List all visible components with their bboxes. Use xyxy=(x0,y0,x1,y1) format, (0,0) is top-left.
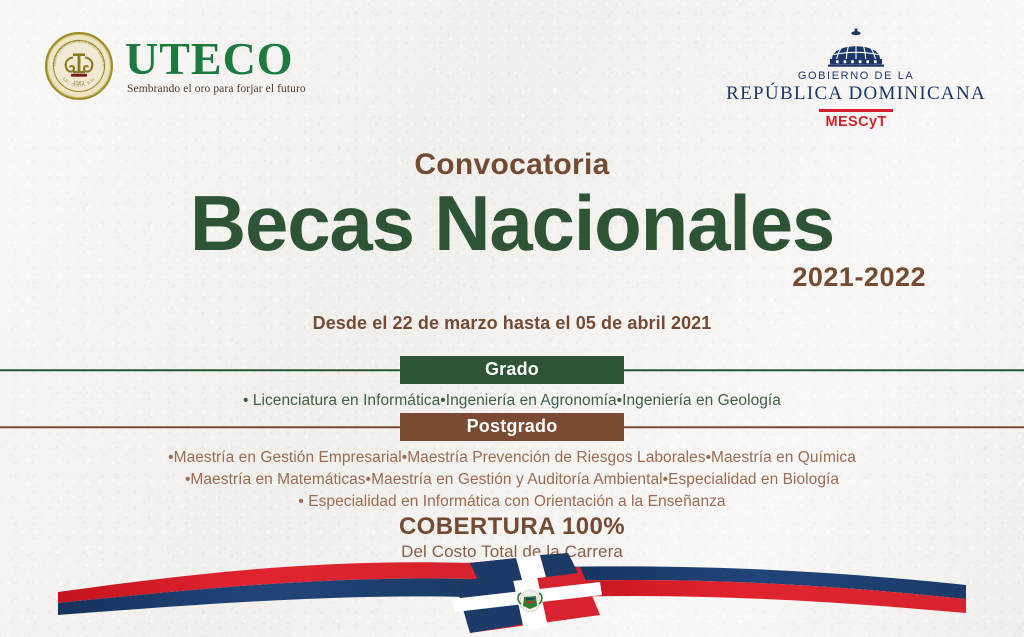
capitol-dome-icon xyxy=(825,28,887,68)
grado-program-list: • Licenciatura en Informática•Ingeniería… xyxy=(0,390,1024,412)
gobierno-logo-lockup: GOBIERNO DE LA REPÚBLICA DOMINICANA MESC… xyxy=(726,28,986,130)
title-block: Convocatoria Becas Nacionales 2021-2022 … xyxy=(0,150,1024,334)
svg-text:1982: 1982 xyxy=(74,81,85,86)
list-item: •Maestría en Matemáticas•Maestría en Ges… xyxy=(0,469,1024,491)
postgrado-banner: Postgrado xyxy=(0,414,1024,440)
page-title: Becas Nacionales xyxy=(0,184,1024,264)
title-kicker: Convocatoria xyxy=(0,150,1024,180)
poster-header: UNIVERSIDAD TECNOLOGICA DEL CIBAO ORIENT… xyxy=(0,0,1024,130)
section-grado: Grado • Licenciatura en Informática•Inge… xyxy=(0,357,1024,412)
list-item: • Especialidad en Informática con Orient… xyxy=(0,491,1024,513)
gobierno-line-1: GOBIERNO DE LA xyxy=(798,70,915,82)
uteco-seal-emblem xyxy=(62,50,96,80)
dominican-flag-ribbon xyxy=(0,551,1024,637)
grado-banner: Grado xyxy=(0,357,1024,383)
uteco-wordmark-block: UTECO Sembrando el oro para forjar el fu… xyxy=(125,37,306,95)
gobierno-red-rule xyxy=(819,109,893,112)
gobierno-line-2: REPÚBLICA DOMINICANA xyxy=(726,83,986,105)
uteco-wordmark: UTECO xyxy=(125,37,306,81)
list-item: •Maestría en Gestión Empresarial•Maestrí… xyxy=(0,447,1024,469)
mescyt-label: MESCyT xyxy=(825,114,886,130)
flag-ribbon-graphic xyxy=(0,551,1024,637)
coverage-headline: COBERTURA 100% xyxy=(0,513,1024,541)
uteco-tagline: Sembrando el oro para forjar el futuro xyxy=(127,84,306,96)
list-item: • Licenciatura en Informática•Ingeniería… xyxy=(0,390,1024,412)
postgrado-label: Postgrado xyxy=(400,413,624,441)
poster-canvas: UNIVERSIDAD TECNOLOGICA DEL CIBAO ORIENT… xyxy=(0,0,1024,637)
section-postgrado: Postgrado •Maestría en Gestión Empresari… xyxy=(0,414,1024,513)
uteco-logo-lockup: UNIVERSIDAD TECNOLOGICA DEL CIBAO ORIENT… xyxy=(45,32,306,100)
application-date-range: Desde el 22 de marzo hasta el 05 de abri… xyxy=(0,313,1024,334)
postgrado-program-list: •Maestría en Gestión Empresarial•Maestrí… xyxy=(0,447,1024,513)
uteco-seal-icon: UNIVERSIDAD TECNOLOGICA DEL CIBAO ORIENT… xyxy=(45,32,113,100)
grado-label: Grado xyxy=(400,356,624,384)
